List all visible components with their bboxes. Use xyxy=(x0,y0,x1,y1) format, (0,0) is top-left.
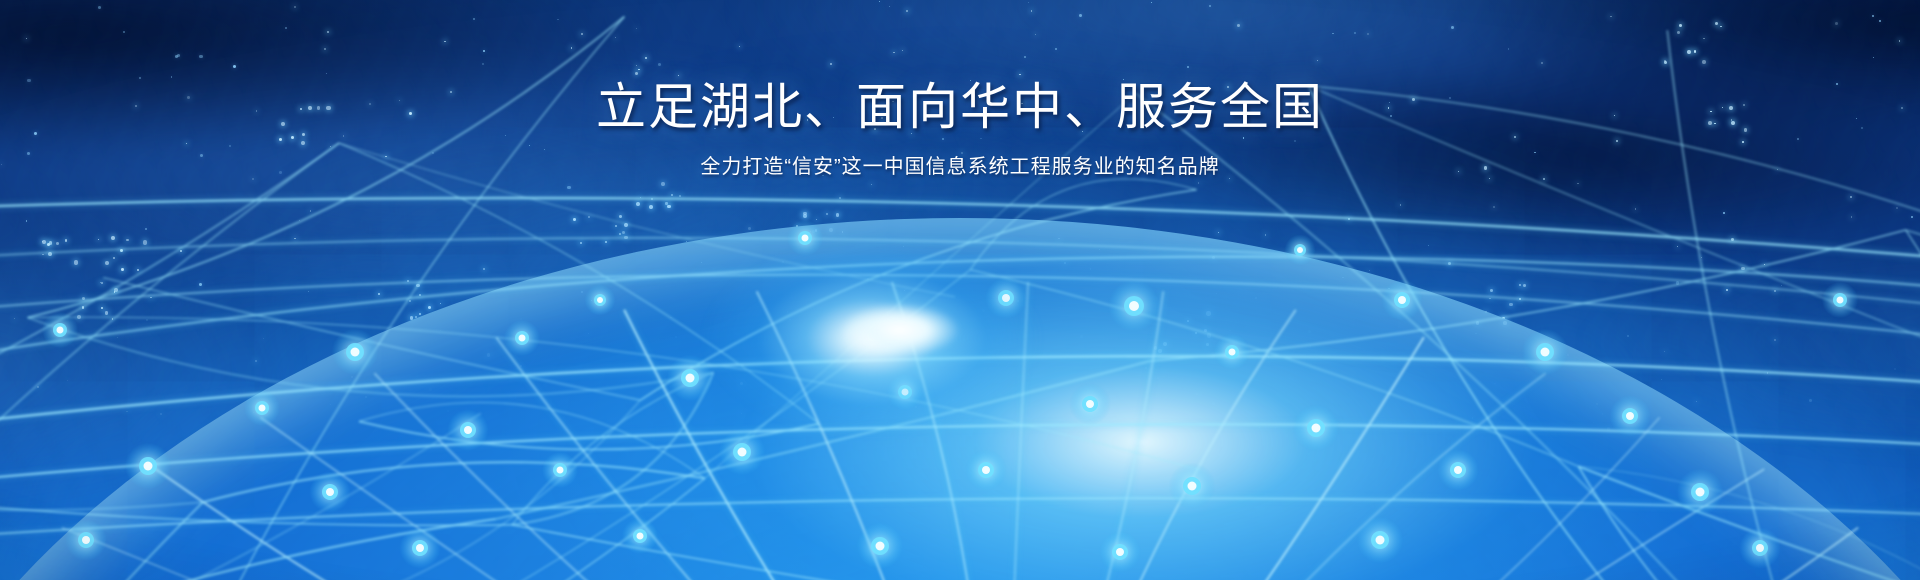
hero-copy: 立足湖北、面向华中、服务全国 全力打造“信安”这一中国信息系统工程服务业的知名品… xyxy=(0,78,1920,180)
hero-banner: 立足湖北、面向华中、服务全国 全力打造“信安”这一中国信息系统工程服务业的知名品… xyxy=(0,0,1920,580)
network-light-core xyxy=(840,303,960,357)
hero-headline: 立足湖北、面向华中、服务全国 xyxy=(0,78,1920,137)
hero-subheadline: 全力打造“信安”这一中国信息系统工程服务业的知名品牌 xyxy=(0,154,1920,180)
